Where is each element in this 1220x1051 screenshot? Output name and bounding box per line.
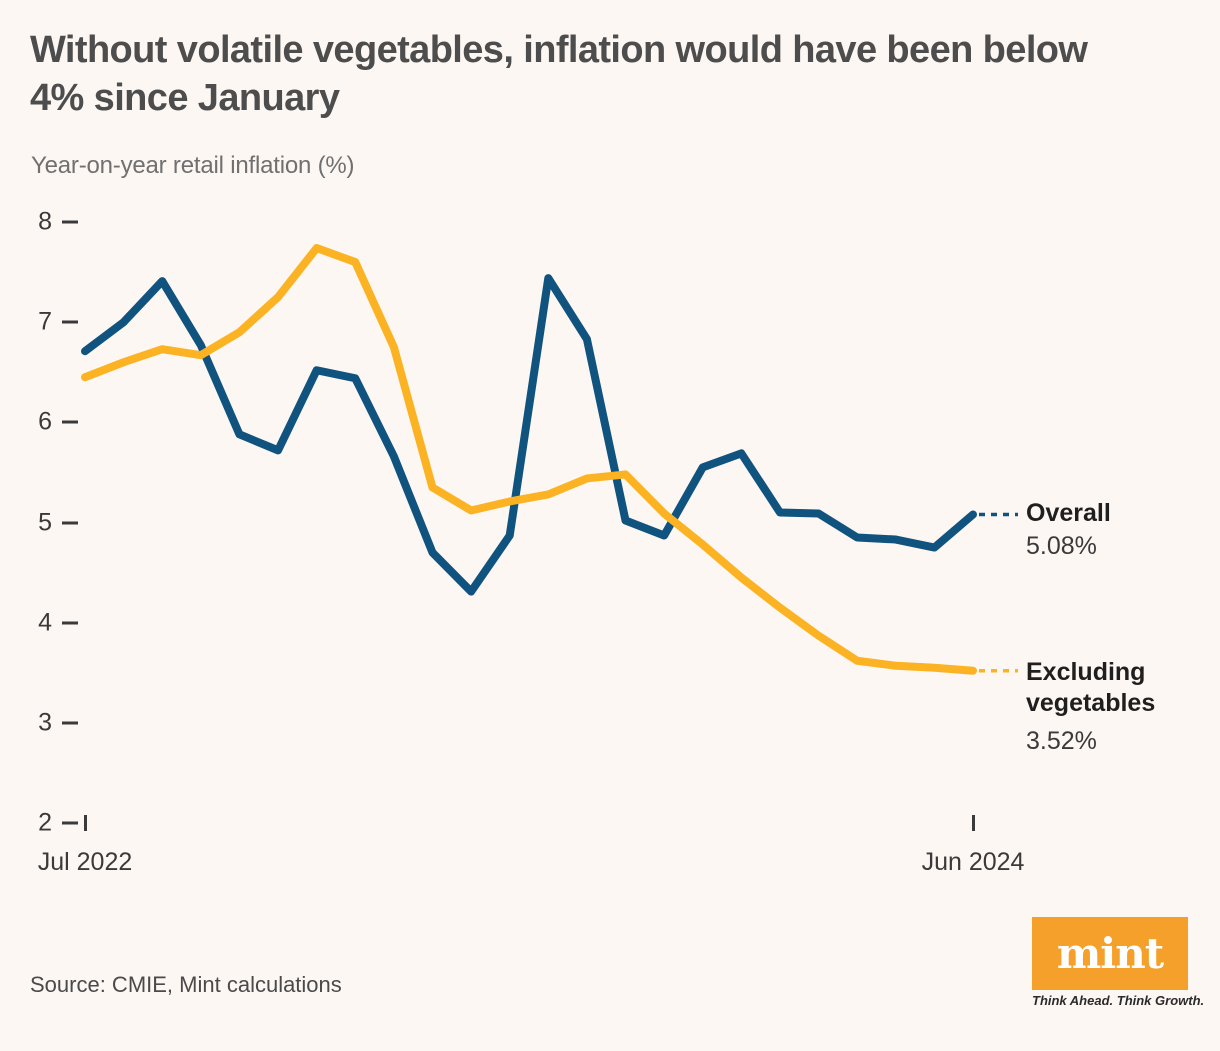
series-line-excluding-vegetables bbox=[85, 248, 973, 671]
mint-logo: mint bbox=[1032, 917, 1188, 990]
y-axis-tick-label: 6 bbox=[22, 408, 52, 437]
y-axis-tick-label: 7 bbox=[22, 308, 52, 337]
y-axis-tick-mark bbox=[62, 221, 78, 224]
y-axis-tick-label: 5 bbox=[22, 508, 52, 537]
series-label-overall: Overall bbox=[1026, 498, 1111, 529]
y-axis-tick-mark bbox=[62, 721, 78, 724]
y-axis-tick-mark bbox=[62, 521, 78, 524]
y-axis-tick-label: 3 bbox=[22, 708, 52, 737]
y-axis-tick-mark bbox=[62, 321, 78, 324]
source-note: Source: CMIE, Mint calculations bbox=[30, 972, 342, 998]
series-value-excluding-vegetables: 3.52% bbox=[1026, 727, 1097, 756]
mint-logo-wordmark: mint bbox=[1057, 933, 1163, 975]
y-axis-tick-label: 4 bbox=[22, 608, 52, 637]
chart-page: Without volatile vegetables, inflation w… bbox=[0, 0, 1220, 1046]
y-axis-tick-label: 2 bbox=[22, 809, 52, 838]
series-line-overall bbox=[85, 278, 973, 592]
mint-logo-tagline: Think Ahead. Think Growth. bbox=[1032, 993, 1188, 1008]
y-axis-tick-label: 8 bbox=[22, 208, 52, 237]
x-axis-tick-mark bbox=[972, 815, 975, 831]
y-axis-tick-mark bbox=[62, 621, 78, 624]
y-axis-tick-mark bbox=[62, 421, 78, 424]
y-axis-tick-mark bbox=[62, 822, 78, 825]
x-axis-tick-label: Jul 2022 bbox=[38, 848, 133, 877]
series-value-overall: 5.08% bbox=[1026, 532, 1097, 561]
x-axis-tick-mark bbox=[84, 815, 87, 831]
x-axis-tick-label: Jun 2024 bbox=[922, 848, 1025, 877]
series-label-excluding-vegetables: Excluding vegetables bbox=[1026, 657, 1155, 719]
